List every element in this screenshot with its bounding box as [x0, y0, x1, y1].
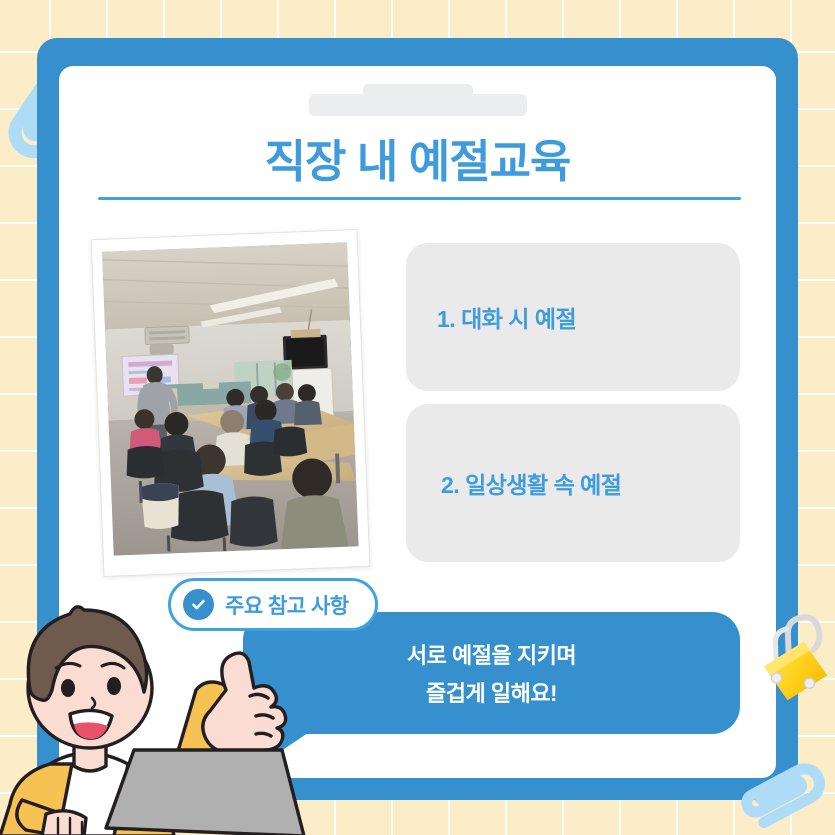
content-item-1-label: 1. 대화 시 예절 [406, 300, 576, 334]
title-divider [98, 197, 741, 200]
bubble-line-2: 즐겁게 일해요! [426, 676, 557, 708]
content-item-2[interactable]: 2. 일상생활 속 예절 [406, 404, 740, 562]
infographic-canvas: 직장 내 예절교육 [0, 0, 835, 835]
content-item-1[interactable]: 1. 대화 시 예절 [406, 243, 740, 391]
page-title: 직장 내 예절교육 [0, 125, 835, 190]
photo-frame [91, 229, 371, 577]
content-item-2-label: 2. 일상생활 속 예절 [406, 466, 621, 500]
clipboard-clip-icon [309, 94, 527, 116]
training-session-photo [102, 242, 358, 555]
bubble-line-1: 서로 예절을 지키며 [407, 638, 576, 670]
check-circle-icon [183, 589, 214, 620]
status-badge[interactable]: 주요 참고 사항 [168, 578, 378, 631]
status-badge-label: 주요 참고 사항 [225, 590, 349, 620]
